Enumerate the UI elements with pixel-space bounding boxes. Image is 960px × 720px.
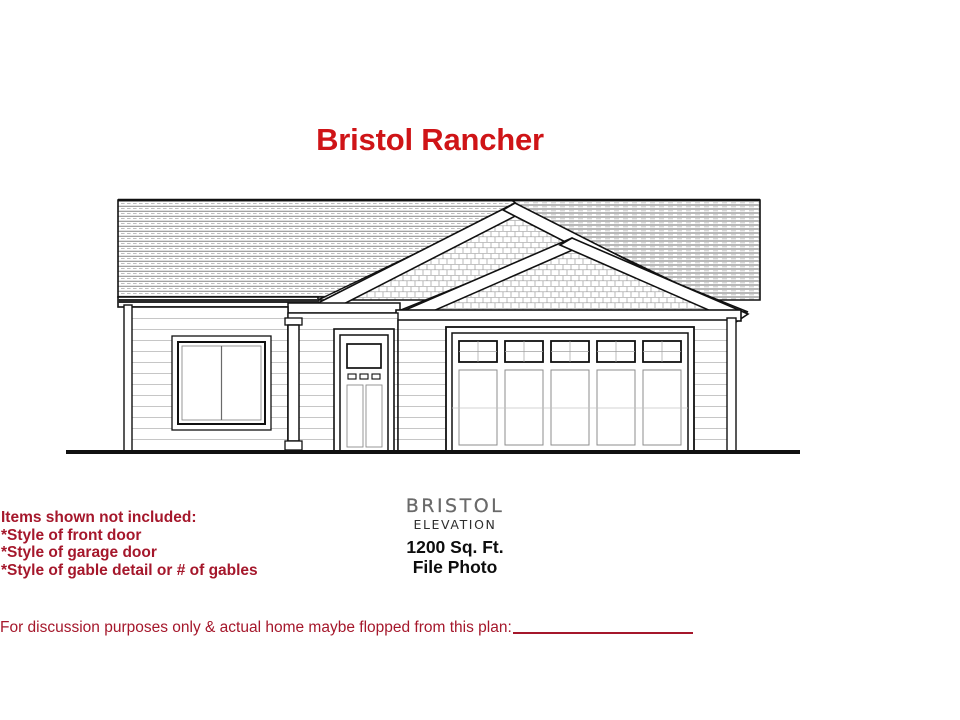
elevation-geometry [66,200,800,452]
gable-front-left [318,203,712,311]
elevation-drawing [0,0,960,720]
notes-item: *Style of front door [1,527,331,545]
page-title: Bristol Rancher [0,122,860,158]
eave-fascia [118,297,741,321]
garage-panels [452,370,688,445]
plan-name: BRISTOL [330,496,580,516]
notes-item: *Style of gable detail or # of gables [1,562,331,580]
disclaimer-line: For discussion purposes only & actual ho… [0,619,760,637]
plan-view-label: ELEVATION [330,517,580,533]
garage-door [446,327,694,452]
drawing-page: Bristol Rancher [0,0,960,720]
signature-line[interactable] [513,632,693,634]
garage-lights [459,341,681,362]
disclaimer-text: For discussion purposes only & actual ho… [0,619,512,636]
file-photo-note: File Photo [330,557,580,577]
main-roof [118,200,760,300]
notes-block: Items shown not included: *Style of fron… [1,509,331,579]
plan-stamp: BRISTOL ELEVATION 1200 Sq. Ft. File Phot… [330,496,580,577]
living-room-window [172,336,271,430]
plan-area: 1200 Sq. Ft. [330,537,580,557]
notes-heading: Items shown not included: [1,509,331,527]
front-door [334,329,394,451]
gable-front-right [396,238,748,322]
porch-column [285,318,302,450]
notes-item: *Style of garage door [1,544,331,562]
wall-planes [124,305,736,452]
